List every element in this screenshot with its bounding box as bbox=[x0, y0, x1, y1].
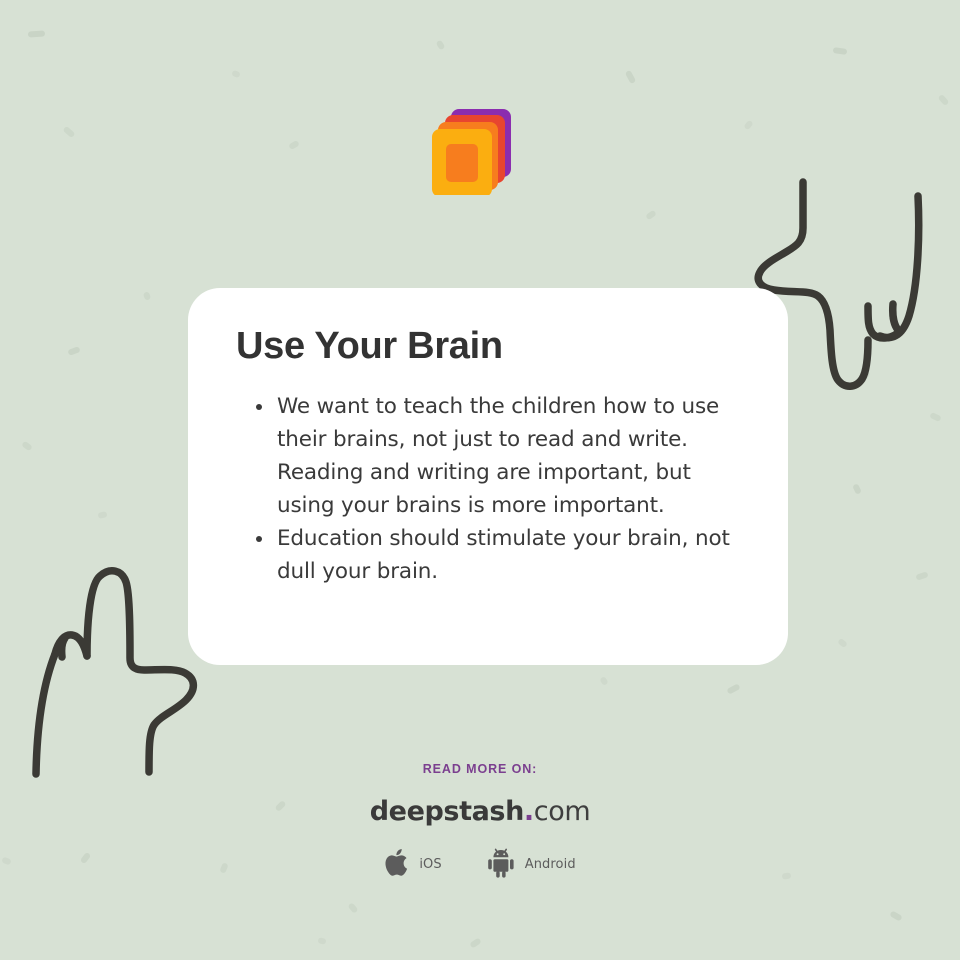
speckle bbox=[726, 683, 740, 694]
brand-tld: com bbox=[534, 796, 590, 827]
speckle bbox=[859, 370, 871, 384]
page-title: Use Your Brain bbox=[236, 324, 744, 370]
pointing-hand-up-illustration bbox=[18, 560, 214, 784]
speckle bbox=[67, 346, 80, 356]
speckle bbox=[938, 94, 950, 106]
speckle bbox=[469, 937, 481, 948]
speckle bbox=[833, 47, 848, 55]
list-item: Education should stimulate your brain, n… bbox=[256, 522, 744, 588]
ios-store-badge[interactable]: iOS bbox=[384, 847, 441, 882]
read-more-label: READ MORE ON: bbox=[0, 762, 960, 776]
brand-dot: . bbox=[524, 796, 534, 827]
ios-label: iOS bbox=[419, 857, 441, 872]
speckle bbox=[347, 902, 358, 914]
brand-wordmark[interactable]: deepstash.com bbox=[0, 798, 960, 825]
android-store-badge[interactable]: Android bbox=[486, 847, 576, 882]
android-label: Android bbox=[525, 857, 576, 872]
speckle bbox=[837, 638, 848, 648]
speckle bbox=[599, 676, 609, 686]
speckle bbox=[21, 441, 33, 452]
speckle bbox=[915, 571, 928, 580]
brand-name: deepstash bbox=[370, 796, 524, 827]
content-card: Use Your Brain We want to teach the chil… bbox=[188, 288, 788, 665]
speckle bbox=[231, 70, 241, 79]
speckle bbox=[929, 412, 942, 422]
list-item-text: Education should stimulate your brain, n… bbox=[277, 526, 730, 584]
speckle bbox=[143, 291, 151, 301]
list-item: We want to teach the children how to use… bbox=[256, 390, 744, 522]
android-icon bbox=[486, 847, 516, 882]
speckle bbox=[645, 210, 657, 221]
speckle bbox=[63, 126, 76, 138]
speckle bbox=[436, 40, 446, 51]
list-item-text: We want to teach the children how to use… bbox=[277, 394, 719, 518]
apple-icon bbox=[384, 847, 410, 882]
footer: READ MORE ON: deepstash.com iOS bbox=[0, 762, 960, 882]
poster-canvas: Use Your Brain We want to teach the chil… bbox=[0, 0, 960, 960]
speckle bbox=[743, 120, 753, 131]
speckle bbox=[97, 511, 107, 519]
speckle bbox=[28, 30, 45, 37]
bullet-icon bbox=[256, 404, 262, 410]
deepstash-logo bbox=[429, 103, 517, 195]
app-store-badges: iOS bbox=[0, 847, 960, 882]
speckle bbox=[288, 140, 300, 150]
speckle bbox=[317, 937, 326, 945]
speckle bbox=[852, 483, 862, 495]
speckle bbox=[889, 910, 902, 921]
bullet-icon bbox=[256, 536, 262, 542]
speckle bbox=[625, 70, 636, 84]
idea-bullet-list: We want to teach the children how to use… bbox=[236, 390, 744, 588]
